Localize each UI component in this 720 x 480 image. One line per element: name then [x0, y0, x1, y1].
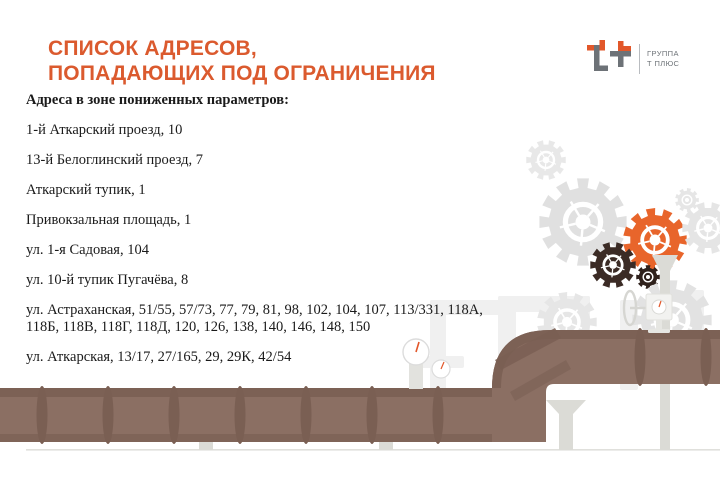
- gear-bottom-gray: [632, 280, 711, 359]
- gear-dark-small: [636, 265, 660, 289]
- address-item: Аткарский тупик, 1: [26, 182, 626, 199]
- gear-small-right: [675, 188, 699, 212]
- address-item: ул. 1-я Садовая, 104: [26, 242, 626, 259]
- logo-divider: [639, 44, 640, 74]
- gear-right-edge: [682, 202, 720, 253]
- address-list-heading: Адреса в зоне пониженных параметров:: [26, 92, 626, 109]
- brand-logo: ГРУППА Т ПЛЮС: [586, 38, 698, 80]
- address-item: 1-й Аткарский проезд, 10: [26, 122, 626, 139]
- address-item: ул. 10-й тупик Пугачёва, 8: [26, 272, 626, 289]
- logo-text: ГРУППА Т ПЛЮС: [647, 49, 679, 69]
- page-title: СПИСОК АДРЕСОВ, ПОПАДАЮЩИХ ПОД ОГРАНИЧЕН…: [48, 36, 568, 86]
- gear-orange: [623, 208, 686, 272]
- address-item: ул. Аткарская, 13/17, 27/165, 29, 29К, 4…: [26, 349, 626, 366]
- address-item: ул. Астраханская, 51/55, 57/73, 77, 79, …: [26, 302, 626, 336]
- address-list: Адреса в зоне пониженных параметров: 1-й…: [26, 92, 626, 366]
- t-plus-logo-mark-icon: [586, 39, 632, 79]
- address-item: Привокзальная площадь, 1: [26, 212, 626, 229]
- slide-root: СПИСОК АДРЕСОВ, ПОПАДАЮЩИХ ПОД ОГРАНИЧЕН…: [0, 0, 720, 480]
- gauge-panel: [646, 294, 672, 333]
- valve-handwheel: [624, 291, 648, 325]
- address-item: 13-й Белоглинский проезд, 7: [26, 152, 626, 169]
